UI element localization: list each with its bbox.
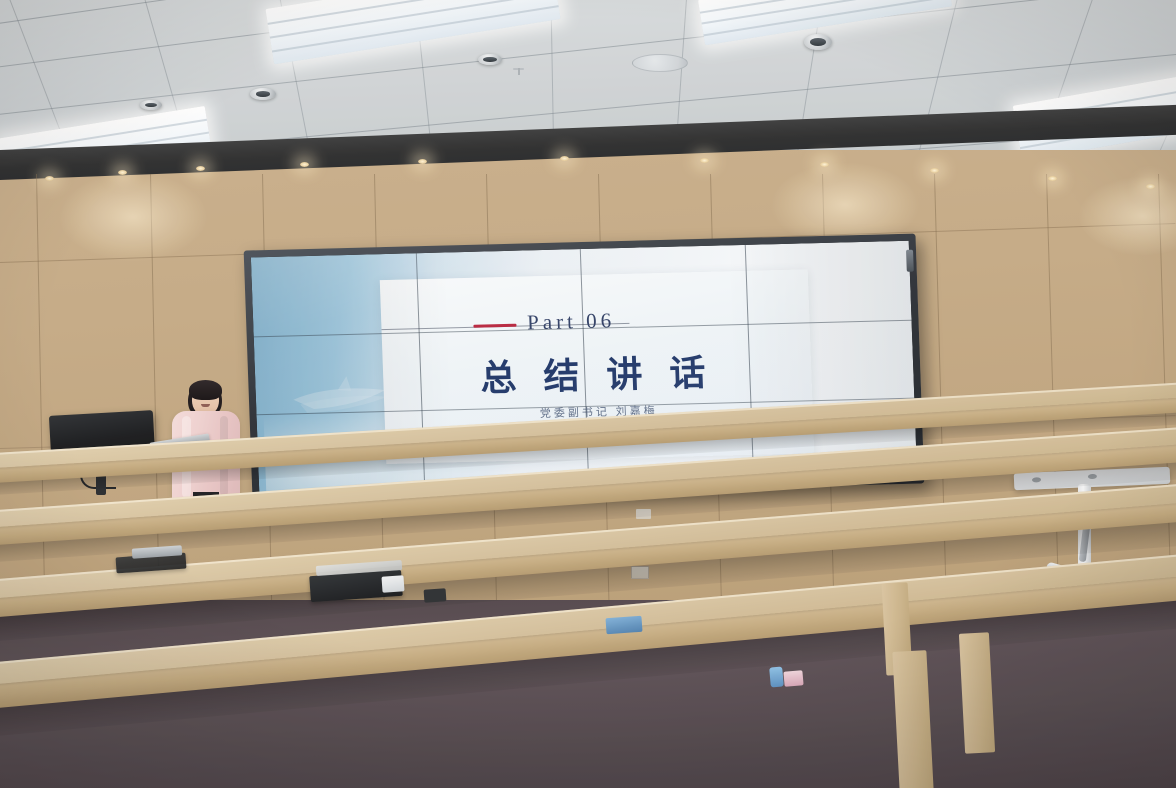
wall-light-glow bbox=[1078, 176, 1176, 256]
wall-light-glow bbox=[58, 172, 208, 262]
ir-sensor-icon bbox=[906, 250, 914, 272]
slide-accent-dash bbox=[474, 323, 517, 327]
dome-camera-icon bbox=[804, 34, 832, 50]
lecture-hall-scene: Part 06 总 结 讲 话 党委副书记 刘嘉梅 bbox=[0, 0, 1176, 788]
downlight-icon bbox=[700, 158, 709, 163]
pink-pouch bbox=[783, 670, 803, 687]
downlight-icon bbox=[45, 176, 54, 181]
water-bottle bbox=[769, 666, 784, 687]
camera-lens bbox=[810, 38, 826, 46]
desk-end-panel bbox=[959, 632, 995, 753]
presenter-hair bbox=[189, 380, 222, 400]
ceiling-tile-line bbox=[0, 0, 1176, 95]
seating-tiers: ueu,isthe stars are nogodsthe fireafraid… bbox=[0, 455, 1176, 788]
detector-core bbox=[483, 57, 496, 62]
smoke-detector-icon bbox=[478, 54, 502, 65]
desk-end-panel bbox=[892, 650, 933, 788]
slide-part-label: Part 06 bbox=[527, 308, 616, 335]
detector-core bbox=[256, 91, 271, 97]
tablet[interactable] bbox=[605, 616, 642, 634]
sprinkler-stem bbox=[518, 68, 520, 75]
downlight-icon bbox=[560, 156, 569, 161]
downlight-icon bbox=[300, 162, 309, 167]
downlight-icon bbox=[1048, 176, 1057, 181]
smoke-detector-icon bbox=[140, 100, 162, 110]
smartphone[interactable] bbox=[381, 575, 404, 592]
ceiling-tile-line bbox=[0, 0, 1176, 55]
downlight-icon bbox=[930, 168, 939, 173]
ceiling-speaker-icon bbox=[632, 54, 688, 72]
downlight-icon bbox=[196, 166, 205, 171]
detector-core bbox=[145, 103, 157, 108]
smoke-detector-icon bbox=[250, 88, 276, 100]
downlight-icon bbox=[418, 159, 427, 164]
eyeglass-case bbox=[424, 588, 447, 603]
